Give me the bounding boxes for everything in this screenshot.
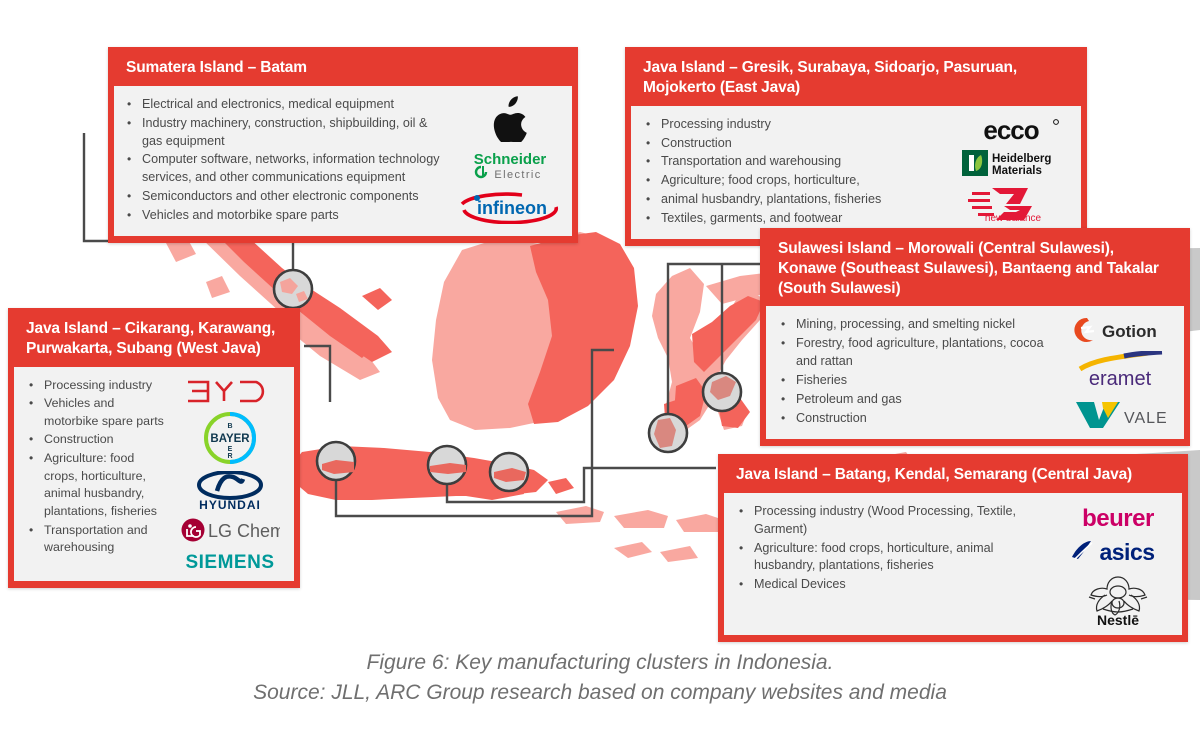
card-title-central-java: Java Island – Batang, Kendal, Semarang (… — [724, 460, 1182, 493]
card-title-sumatera: Sumatera Island – Batam — [114, 53, 572, 86]
bullet-dot-icon: • — [732, 576, 754, 594]
list-item: •Mining, processing, and smelting nickel — [774, 316, 1060, 334]
svg-text:Schneider: Schneider — [474, 151, 547, 168]
logo-strip-east-java: ecco Heidelberg Materials — [951, 114, 1075, 231]
marker-east-java — [490, 453, 528, 491]
caption-line-1: Figure 6: Key manufacturing clusters in … — [0, 648, 1200, 678]
svg-text:ecco: ecco — [983, 116, 1038, 144]
heidelberg-materials-logo: Heidelberg Materials — [961, 148, 1065, 178]
card-central-java[interactable]: Java Island – Batang, Kendal, Semarang (… — [718, 454, 1188, 642]
bullet-dot-icon: • — [732, 503, 754, 539]
svg-text:Gotion: Gotion — [1102, 322, 1157, 341]
bullet-dot-icon: • — [639, 135, 661, 153]
list-item: •Agriculture: food crops, horticulture, … — [732, 540, 1058, 576]
marker-west-java — [317, 442, 355, 480]
svg-text:Nestlē: Nestlē — [1097, 612, 1139, 627]
card-body-sulawesi: •Mining, processing, and smelting nickel… — [766, 306, 1184, 438]
logo-strip-sumatera: Schneider Electric infineon — [450, 94, 570, 228]
bullet-dot-icon: • — [774, 410, 796, 428]
card-sumatera-batam[interactable]: Sumatera Island – Batam •Electrical and … — [108, 47, 578, 243]
list-item: •Medical Devices — [732, 576, 1058, 594]
list-item: •Semiconductors and other electronic com… — [120, 188, 448, 206]
apple-logo — [490, 96, 530, 142]
svg-text:Electric: Electric — [494, 169, 541, 181]
vale-logo: VALE — [1072, 398, 1168, 430]
bullet-list-west-java: •Processing industry •Vehicles and motor… — [18, 375, 172, 573]
logo-strip-sulawesi: Gotion eramet VALE — [1062, 314, 1178, 430]
list-item: •Construction — [22, 431, 170, 449]
list-item: •Industry machinery, construction, shipb… — [120, 115, 448, 151]
bullet-dot-icon: • — [774, 391, 796, 409]
bullet-dot-icon: • — [22, 377, 44, 395]
bullet-dot-icon: • — [639, 116, 661, 134]
bullet-dot-icon: • — [22, 450, 44, 520]
svg-text:eramet: eramet — [1089, 368, 1152, 390]
list-item: •Processing industry (Wood Processing, T… — [732, 503, 1058, 539]
svg-text:new balance: new balance — [985, 213, 1042, 222]
card-body-central-java: •Processing industry (Wood Processing, T… — [724, 493, 1182, 635]
marker-central-java — [428, 446, 466, 484]
siemens-logo: SIEMENS — [180, 549, 280, 573]
figure-root: Sumatera Island – Batam •Electrical and … — [0, 0, 1200, 750]
card-title-west-java: Java Island – Cikarang, Karawang, Purwak… — [14, 314, 294, 367]
svg-text:beurer: beurer — [1082, 505, 1154, 531]
bullet-dot-icon: • — [120, 207, 142, 225]
list-item: •Computer software, networks, informatio… — [120, 151, 448, 187]
list-item: •animal husbandry, plantations, fisherie… — [639, 191, 949, 209]
bullet-dot-icon: • — [639, 172, 661, 190]
schneider-electric-logo: Schneider Electric — [462, 149, 558, 183]
list-item: •Construction — [774, 410, 1060, 428]
list-item: •Agriculture; food crops, horticulture, — [639, 172, 949, 190]
list-item: •Transportation and warehousing — [639, 153, 949, 171]
bullet-list-east-java: •Processing industry •Construction •Tran… — [635, 114, 951, 231]
svg-text:R: R — [227, 453, 232, 460]
card-body-east-java: •Processing industry •Construction •Tran… — [631, 106, 1081, 239]
marker-sulawesi-southeast — [703, 373, 741, 411]
svg-text:LG Chem: LG Chem — [208, 521, 280, 541]
svg-text:asics: asics — [1099, 539, 1154, 565]
bullet-dot-icon: • — [22, 431, 44, 449]
list-item: •Processing industry — [639, 116, 949, 134]
bullet-dot-icon: • — [732, 540, 754, 576]
connector-central-java — [447, 468, 716, 502]
figure-caption: Figure 6: Key manufacturing clusters in … — [0, 648, 1200, 708]
ecco-logo: ecco — [963, 116, 1063, 144]
bullet-dot-icon: • — [774, 316, 796, 334]
connector-west-java-stub — [304, 346, 330, 402]
list-item: •Vehicles and motorbike spare parts — [22, 395, 170, 430]
infineon-logo: infineon — [460, 190, 560, 224]
list-item: •Electrical and electronics, medical equ… — [120, 96, 448, 114]
card-title-east-java: Java Island – Gresik, Surabaya, Sidoarjo… — [631, 53, 1081, 106]
card-sulawesi[interactable]: Sulawesi Island – Morowali (Central Sula… — [760, 228, 1190, 446]
map-markers — [274, 270, 741, 491]
card-body-west-java: •Processing industry •Vehicles and motor… — [14, 367, 294, 581]
nestle-logo: Nestlē — [1075, 571, 1161, 627]
svg-text:Materials: Materials — [992, 165, 1042, 177]
marker-sulawesi-south — [649, 414, 687, 452]
beurer-logo: beurer — [1069, 503, 1167, 531]
svg-text:E: E — [228, 446, 233, 453]
logo-strip-west-java: BAYER B ​ E R HYUNDAI — [172, 375, 288, 573]
bullet-dot-icon: • — [639, 210, 661, 228]
new-balance-logo: new balance — [966, 182, 1060, 222]
svg-text:BAYER: BAYER — [210, 433, 250, 445]
card-title-sulawesi: Sulawesi Island – Morowali (Central Sula… — [766, 234, 1184, 306]
bullet-dot-icon: • — [22, 522, 44, 557]
byd-logo — [184, 379, 276, 405]
list-item: •Transportation and warehousing — [22, 522, 170, 557]
list-item: •Textiles, garments, and footwear — [639, 210, 949, 228]
bullet-dot-icon: • — [22, 395, 44, 430]
bullet-dot-icon: • — [774, 372, 796, 390]
svg-text:Heidelberg: Heidelberg — [992, 153, 1051, 165]
list-item: •Processing industry — [22, 377, 170, 395]
bullet-list-central-java: •Processing industry (Wood Processing, T… — [728, 501, 1060, 627]
list-item: •Petroleum and gas — [774, 391, 1060, 409]
svg-text:VALE: VALE — [1124, 410, 1168, 427]
bullet-dot-icon: • — [120, 96, 142, 114]
caption-line-2: Source: JLL, ARC Group research based on… — [0, 678, 1200, 708]
list-item: •Fisheries — [774, 372, 1060, 390]
eramet-logo: eramet — [1072, 351, 1168, 391]
list-item: •Vehicles and motorbike spare parts — [120, 207, 448, 225]
bullet-dot-icon: • — [120, 188, 142, 206]
card-body-sumatera: •Electrical and electronics, medical equ… — [114, 86, 572, 236]
bullet-list-sulawesi: •Mining, processing, and smelting nickel… — [770, 314, 1062, 430]
lg-chem-logo: LG Chem — [180, 517, 280, 543]
list-item: •Forestry, food agriculture, plantations… — [774, 335, 1060, 371]
svg-text:infineon: infineon — [477, 198, 547, 218]
bayer-logo: BAYER B ​ E R — [203, 411, 257, 465]
svg-text:HYUNDAI: HYUNDAI — [199, 498, 261, 511]
bullet-dot-icon: • — [774, 335, 796, 371]
bullet-dot-icon: • — [120, 115, 142, 151]
bullet-list-sumatera: •Electrical and electronics, medical equ… — [118, 94, 450, 228]
svg-text:B: B — [227, 423, 232, 430]
list-item: •Agriculture: food crops, horticulture, … — [22, 450, 170, 520]
list-item: •Construction — [639, 135, 949, 153]
asics-logo: asics — [1069, 537, 1167, 565]
gotion-logo: Gotion — [1071, 316, 1169, 344]
hyundai-logo: HYUNDAI — [187, 471, 273, 511]
bullet-dot-icon: • — [120, 151, 142, 187]
bullet-dot-icon: • — [639, 191, 661, 209]
bullet-dot-icon: • — [639, 153, 661, 171]
card-west-java[interactable]: Java Island – Cikarang, Karawang, Purwak… — [8, 308, 300, 588]
marker-batam — [274, 270, 312, 308]
svg-text:SIEMENS: SIEMENS — [185, 552, 274, 573]
card-east-java[interactable]: Java Island – Gresik, Surabaya, Sidoarjo… — [625, 47, 1087, 246]
connector-east-java — [336, 350, 614, 516]
logo-strip-central-java: beurer asics — [1060, 501, 1176, 627]
